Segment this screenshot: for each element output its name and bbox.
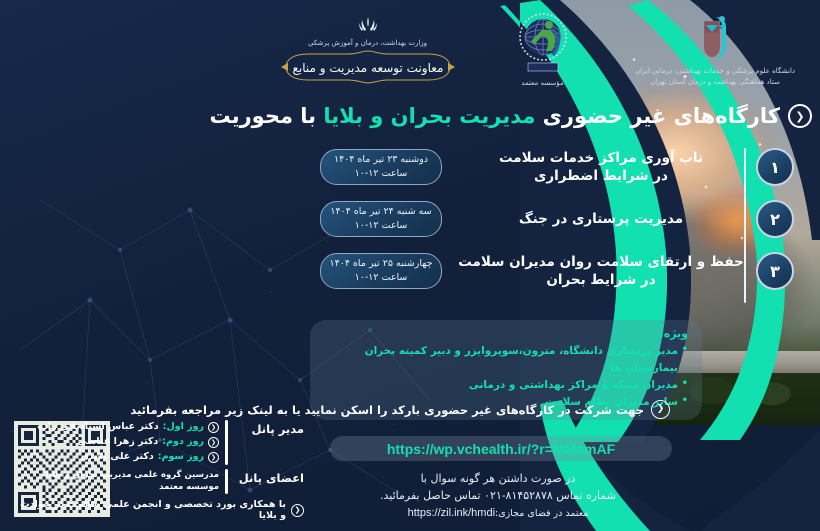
logo-iums: دانشگاه علوم پزشکی و خدمات بهداشتی، درما… bbox=[610, 13, 820, 87]
workshop-row: ۲ مدیریت پرستاری در جنگ سه شنبه ۲۴ تیر م… bbox=[320, 197, 794, 241]
iran-emblem-icon bbox=[357, 16, 379, 34]
audience-heading: ویژه: bbox=[324, 327, 688, 340]
chevron-left-icon: ❮ bbox=[208, 422, 219, 433]
registration-instruction-text: جهت شرکت در کارگاه‌های غیر حضوری بارکد ر… bbox=[130, 403, 644, 417]
workshop-title-line-1: حفظ و ارتقای سلامت روان مدیران سلامت bbox=[456, 253, 746, 271]
footer-line-3: معتمد در فضای مجازی:https://zil.ink/hmdi bbox=[328, 505, 668, 522]
panel-manager-row: مدیر پانل ❮ روز اول: دکتر عباس استادتقی … bbox=[12, 420, 304, 464]
title-part-1: کارگاه‌های غیر حضوری bbox=[535, 104, 780, 128]
workshop-number-badge: ۳ bbox=[756, 252, 794, 290]
workshop-title-line-2: در شرایط اضطراری bbox=[456, 167, 746, 185]
workshop-title: مدیریت پرستاری در جنگ bbox=[456, 210, 746, 228]
audience-item: مدیر پرستاری دانشگاه، مترون،سوپروایزر و … bbox=[324, 343, 688, 377]
footer-phone-suffix: تماس حاصل بفرمائید. bbox=[380, 489, 484, 502]
iums-emblem-icon bbox=[692, 13, 738, 63]
workshop-date-pill: سه شنبه ۲۴ تیر ماه ۱۴۰۴ ساعت ۱۲-۱۰ bbox=[320, 201, 442, 237]
panel-members-body: مدرسین گروه علمی مدیریت بحران و بلایا مو… bbox=[12, 469, 219, 495]
footer-line-1: در صورت داشتن هر گونه سوال با bbox=[328, 470, 668, 487]
logo-iums-caption-2: ستاد هماهنگی بهداشت و درمان استان تهران bbox=[650, 77, 780, 87]
panel-members-label: اعضای پانل bbox=[234, 469, 304, 485]
globe-figure-icon bbox=[512, 11, 574, 75]
workshop-date-pill: چهارشنبه ۲۵ تیر ماه ۱۴۰۴ ساعت ۱۲-۱۰ bbox=[320, 253, 442, 289]
workshop-time: ساعت ۱۲-۱۰ bbox=[355, 271, 408, 285]
logo-iums-caption-1: دانشگاه علوم پزشکی و خدمات بهداشتی، درما… bbox=[635, 66, 795, 76]
chevron-left-icon: ❮ bbox=[208, 437, 219, 448]
logo-moh-caption-1: وزارت بهداشت، درمان و آموزش پزشکی bbox=[308, 38, 427, 48]
logo-motamed-caption: مؤسسه معتمد bbox=[521, 78, 563, 88]
panel-manager-day: روز دوم: bbox=[162, 435, 204, 450]
page-title: کارگاه‌های غیر حضوری مدیریت بحران و بلای… bbox=[209, 104, 780, 128]
panel-manager-item: ❮ روز دوم: دکتر زهرا عباسی bbox=[12, 435, 219, 450]
panel-divider bbox=[225, 420, 228, 464]
panel-manager-day: روز اول: bbox=[163, 420, 204, 435]
footer-phone: ۰۲۱-۸۱۴۵۲۸۷۸ bbox=[484, 490, 553, 502]
main-title-row: ❮ کارگاه‌های غیر حضوری مدیریت بحران و بل… bbox=[209, 104, 812, 128]
registration-url-pill[interactable]: https://wp.vchealth.ir/?r=MMamAF bbox=[330, 436, 672, 461]
logo-ministry-of-health: وزارت بهداشت، درمان و آموزش پزشکی معاونت… bbox=[260, 16, 475, 84]
panel-manager-item: ❮ روز اول: دکتر عباس استادتقی زاده bbox=[12, 420, 219, 435]
title-accent: مدیریت بحران و بلایا bbox=[323, 104, 535, 128]
footer-contact-note: در صورت داشتن هر گونه سوال با شماره تماس… bbox=[328, 470, 668, 522]
logo-motamed-institute: مؤسسه معتمد bbox=[475, 11, 610, 88]
workshop-title-line-1: تاب آوری مراکز خدمات سلامت bbox=[456, 149, 746, 167]
workshop-number-badge: ۱ bbox=[756, 148, 794, 186]
registration-url[interactable]: https://wp.vchealth.ir/?r=MMamAF bbox=[387, 441, 615, 457]
panel-members-text: مدرسین گروه علمی مدیریت بحران و بلایا مو… bbox=[12, 469, 219, 495]
workshop-title: تاب آوری مراکز خدمات سلامت در شرایط اضطر… bbox=[456, 149, 746, 185]
footer-social-url[interactable]: https://zil.ink/hmdi bbox=[408, 507, 495, 519]
workshop-time: ساعت ۱۲-۱۰ bbox=[355, 219, 408, 233]
footer-line-2: شماره تماس ۰۲۱-۸۱۴۵۲۸۷۸ تماس حاصل بفرمائ… bbox=[328, 487, 668, 505]
panel-divider bbox=[225, 469, 228, 495]
workshop-row: ۳ حفظ و ارتقای سلامت روان مدیران سلامت د… bbox=[320, 249, 794, 293]
chevron-left-icon: ❮ bbox=[788, 104, 812, 128]
footer-social-label: معتمد در فضای مجازی: bbox=[495, 508, 588, 519]
workshop-time: ساعت ۱۲-۱۰ bbox=[355, 167, 408, 181]
title-part-2: با محوریت bbox=[209, 104, 323, 128]
svg-text:معاونت توسعه مدیریت و منابع: معاونت توسعه مدیریت و منابع bbox=[292, 61, 443, 76]
chevron-left-icon: ❮ bbox=[291, 504, 304, 517]
header-logos: دانشگاه علوم پزشکی و خدمات بهداشتی، درما… bbox=[0, 0, 820, 100]
workshop-row: ۱ تاب آوری مراکز خدمات سلامت در شرایط اض… bbox=[320, 145, 794, 189]
panel-manager-name: دکتر عباس استادتقی زاده bbox=[37, 420, 158, 435]
workshop-number-badge: ۲ bbox=[756, 200, 794, 238]
workshop-title: حفظ و ارتقای سلامت روان مدیران سلامت در … bbox=[456, 253, 746, 289]
registration-instruction-row: ❮ جهت شرکت در کارگاه‌های غیر حضوری بارکد… bbox=[130, 400, 670, 419]
panel-manager-day: روز سوم: bbox=[158, 450, 204, 465]
panel-manager-name: دکتر زهرا عباسی bbox=[77, 435, 158, 450]
audience-item: مدیران شبکه و مراکز بهداشتی و درمانی bbox=[324, 377, 688, 394]
footer-phone-prefix: شماره تماس bbox=[553, 489, 616, 502]
panel-collaboration-row: ❮ با همکاری بورد تخصصی و انجمن علمی سلام… bbox=[12, 499, 304, 521]
panel-manager-list: ❮ روز اول: دکتر عباس استادتقی زاده ❮ روز… bbox=[12, 420, 219, 464]
chevron-left-icon: ❮ bbox=[208, 452, 219, 463]
panel-manager-item: ❮ روز سوم: دکتر علی اسدی bbox=[12, 450, 219, 465]
workshop-title-line-1: مدیریت پرستاری در جنگ bbox=[456, 210, 746, 228]
workshop-date-pill: دوشنبه ۲۳ تیر ماه ۱۴۰۴ ساعت ۱۲-۱۰ bbox=[320, 149, 442, 185]
workshop-list: ۱ تاب آوری مراکز خدمات سلامت در شرایط اض… bbox=[320, 145, 794, 301]
poster-root: دانشگاه علوم پزشکی و خدمات بهداشتی، درما… bbox=[0, 0, 820, 531]
panel-info: مدیر پانل ❮ روز اول: دکتر عباس استادتقی … bbox=[12, 420, 304, 521]
moh-ornamental-frame-icon: معاونت توسعه مدیریت و منابع bbox=[278, 50, 458, 84]
workshop-date: سه شنبه ۲۴ تیر ماه ۱۴۰۴ bbox=[330, 205, 431, 219]
workshop-date: دوشنبه ۲۳ تیر ماه ۱۴۰۴ bbox=[334, 153, 428, 167]
panel-manager-label: مدیر پانل bbox=[234, 420, 304, 436]
workshop-title-line-2: در شرایط بحران bbox=[456, 271, 746, 289]
workshop-date: چهارشنبه ۲۵ تیر ماه ۱۴۰۴ bbox=[330, 257, 433, 271]
panel-members-row: اعضای پانل مدرسین گروه علمی مدیریت بحران… bbox=[12, 469, 304, 495]
chevron-left-icon: ❮ bbox=[651, 400, 670, 419]
panel-manager-name: دکتر علی اسدی bbox=[80, 450, 154, 465]
panel-collaboration-text: با همکاری بورد تخصصی و انجمن علمی سلامت … bbox=[12, 499, 286, 521]
